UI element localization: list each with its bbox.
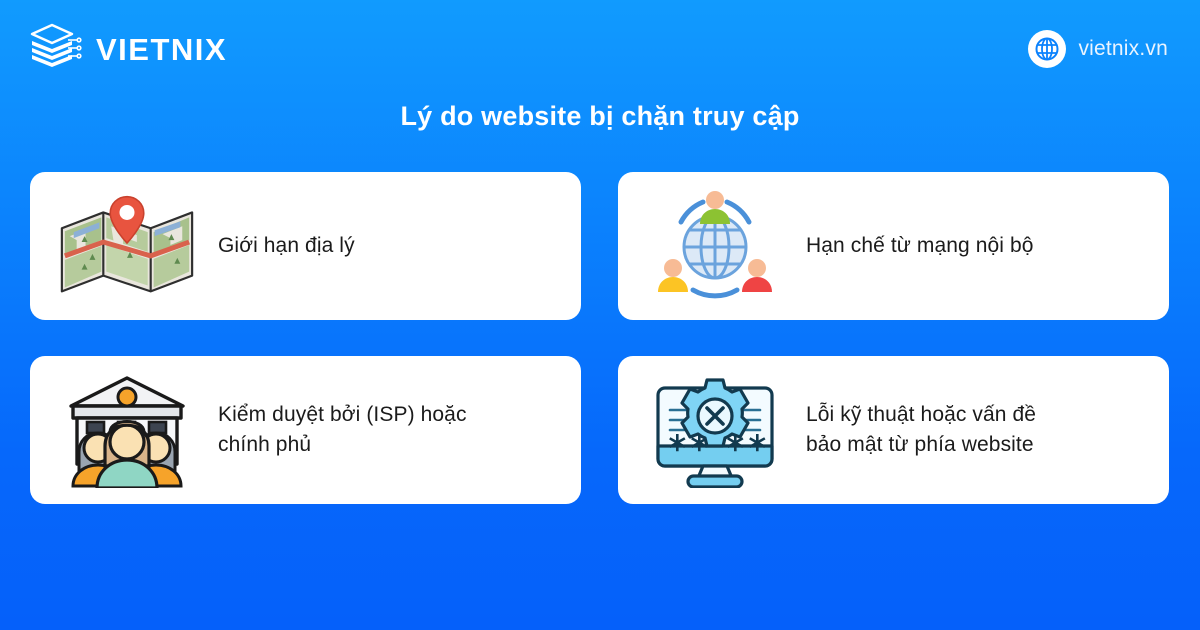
reason-card-technical-security-error[interactable]: Lỗi kỹ thuật hoặc vấn đề bảo mật từ phía… [618, 356, 1169, 504]
gear-icon [682, 380, 748, 446]
reason-card-text: Hạn chế từ mạng nội bộ [806, 231, 1034, 261]
globe-network-users-icon [640, 187, 790, 305]
reason-line: bảo mật từ phía website [806, 430, 1036, 460]
reason-card-text: Giới hạn địa lý [218, 231, 355, 261]
folded-map-pin-icon [52, 187, 202, 305]
reason-line: Lỗi kỹ thuật hoặc vấn đề [806, 400, 1036, 430]
page-header: VIETNIX vietnix.vn [0, 0, 1200, 95]
site-url-label: vietnix.vn [1078, 37, 1168, 61]
reasons-grid: Giới hạn địa lý [30, 172, 1168, 504]
brand-logo[interactable]: VIETNIX [30, 22, 227, 77]
brand-name: VIETNIX [96, 32, 227, 68]
government-building-people-icon [52, 371, 202, 489]
monitor-gear-error-icon [640, 371, 790, 489]
avatar-right [742, 259, 772, 292]
reason-line: Giới hạn địa lý [218, 231, 355, 261]
avatar-left [658, 259, 688, 292]
reason-card-geo-restriction[interactable]: Giới hạn địa lý [30, 172, 581, 320]
reason-card-internal-network[interactable]: Hạn chế từ mạng nội bộ [618, 172, 1169, 320]
page-title: Lý do website bị chặn truy cập [0, 101, 1200, 132]
reason-card-text: Kiểm duyệt bởi (ISP) hoặc chính phủ [218, 400, 467, 461]
reason-card-text: Lỗi kỹ thuật hoặc vấn đề bảo mật từ phía… [806, 400, 1036, 461]
stacked-layers-icon [30, 22, 82, 77]
site-url-block[interactable]: vietnix.vn [1028, 30, 1168, 68]
reason-line: chính phủ [218, 430, 467, 460]
reason-card-isp-government-censorship[interactable]: Kiểm duyệt bởi (ISP) hoặc chính phủ [30, 356, 581, 504]
avatar-top [700, 191, 730, 224]
reason-line: Kiểm duyệt bởi (ISP) hoặc [218, 400, 467, 430]
globe-icon [1028, 30, 1066, 68]
reason-line: Hạn chế từ mạng nội bộ [806, 231, 1034, 261]
